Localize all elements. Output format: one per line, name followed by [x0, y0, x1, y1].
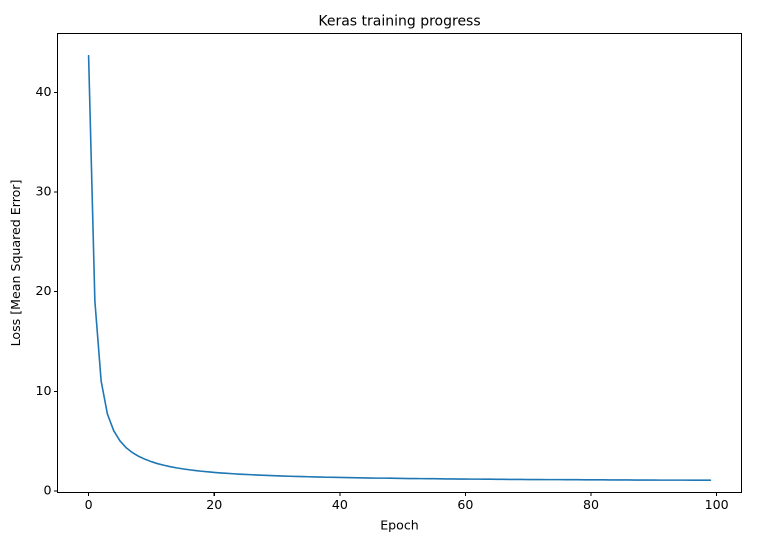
y-tick-label: 40 [35, 84, 51, 99]
y-tick-label: 0 [43, 482, 51, 497]
y-tick-label: 10 [35, 383, 51, 398]
plot-area: 020406080100010203040EpochLoss [Mean Squ… [8, 14, 742, 533]
chart-title: Keras training progress [318, 14, 480, 30]
x-axis-title: Epoch [380, 518, 419, 533]
axes-frame [58, 34, 742, 493]
figure-canvas: 020406080100010203040EpochLoss [Mean Squ… [0, 0, 764, 547]
series-line-loss [89, 56, 711, 481]
x-tick-label: 80 [583, 497, 599, 512]
x-tick-label: 60 [457, 497, 473, 512]
x-tick-label: 0 [85, 497, 93, 512]
y-tick-label: 20 [35, 283, 51, 298]
y-axis-title: Loss [Mean Squared Error] [8, 180, 23, 347]
line-chart: 020406080100010203040EpochLoss [Mean Squ… [0, 0, 764, 547]
x-tick-label: 100 [705, 497, 729, 512]
y-tick-label: 30 [35, 183, 51, 198]
x-tick-label: 20 [206, 497, 222, 512]
x-tick-label: 40 [332, 497, 348, 512]
